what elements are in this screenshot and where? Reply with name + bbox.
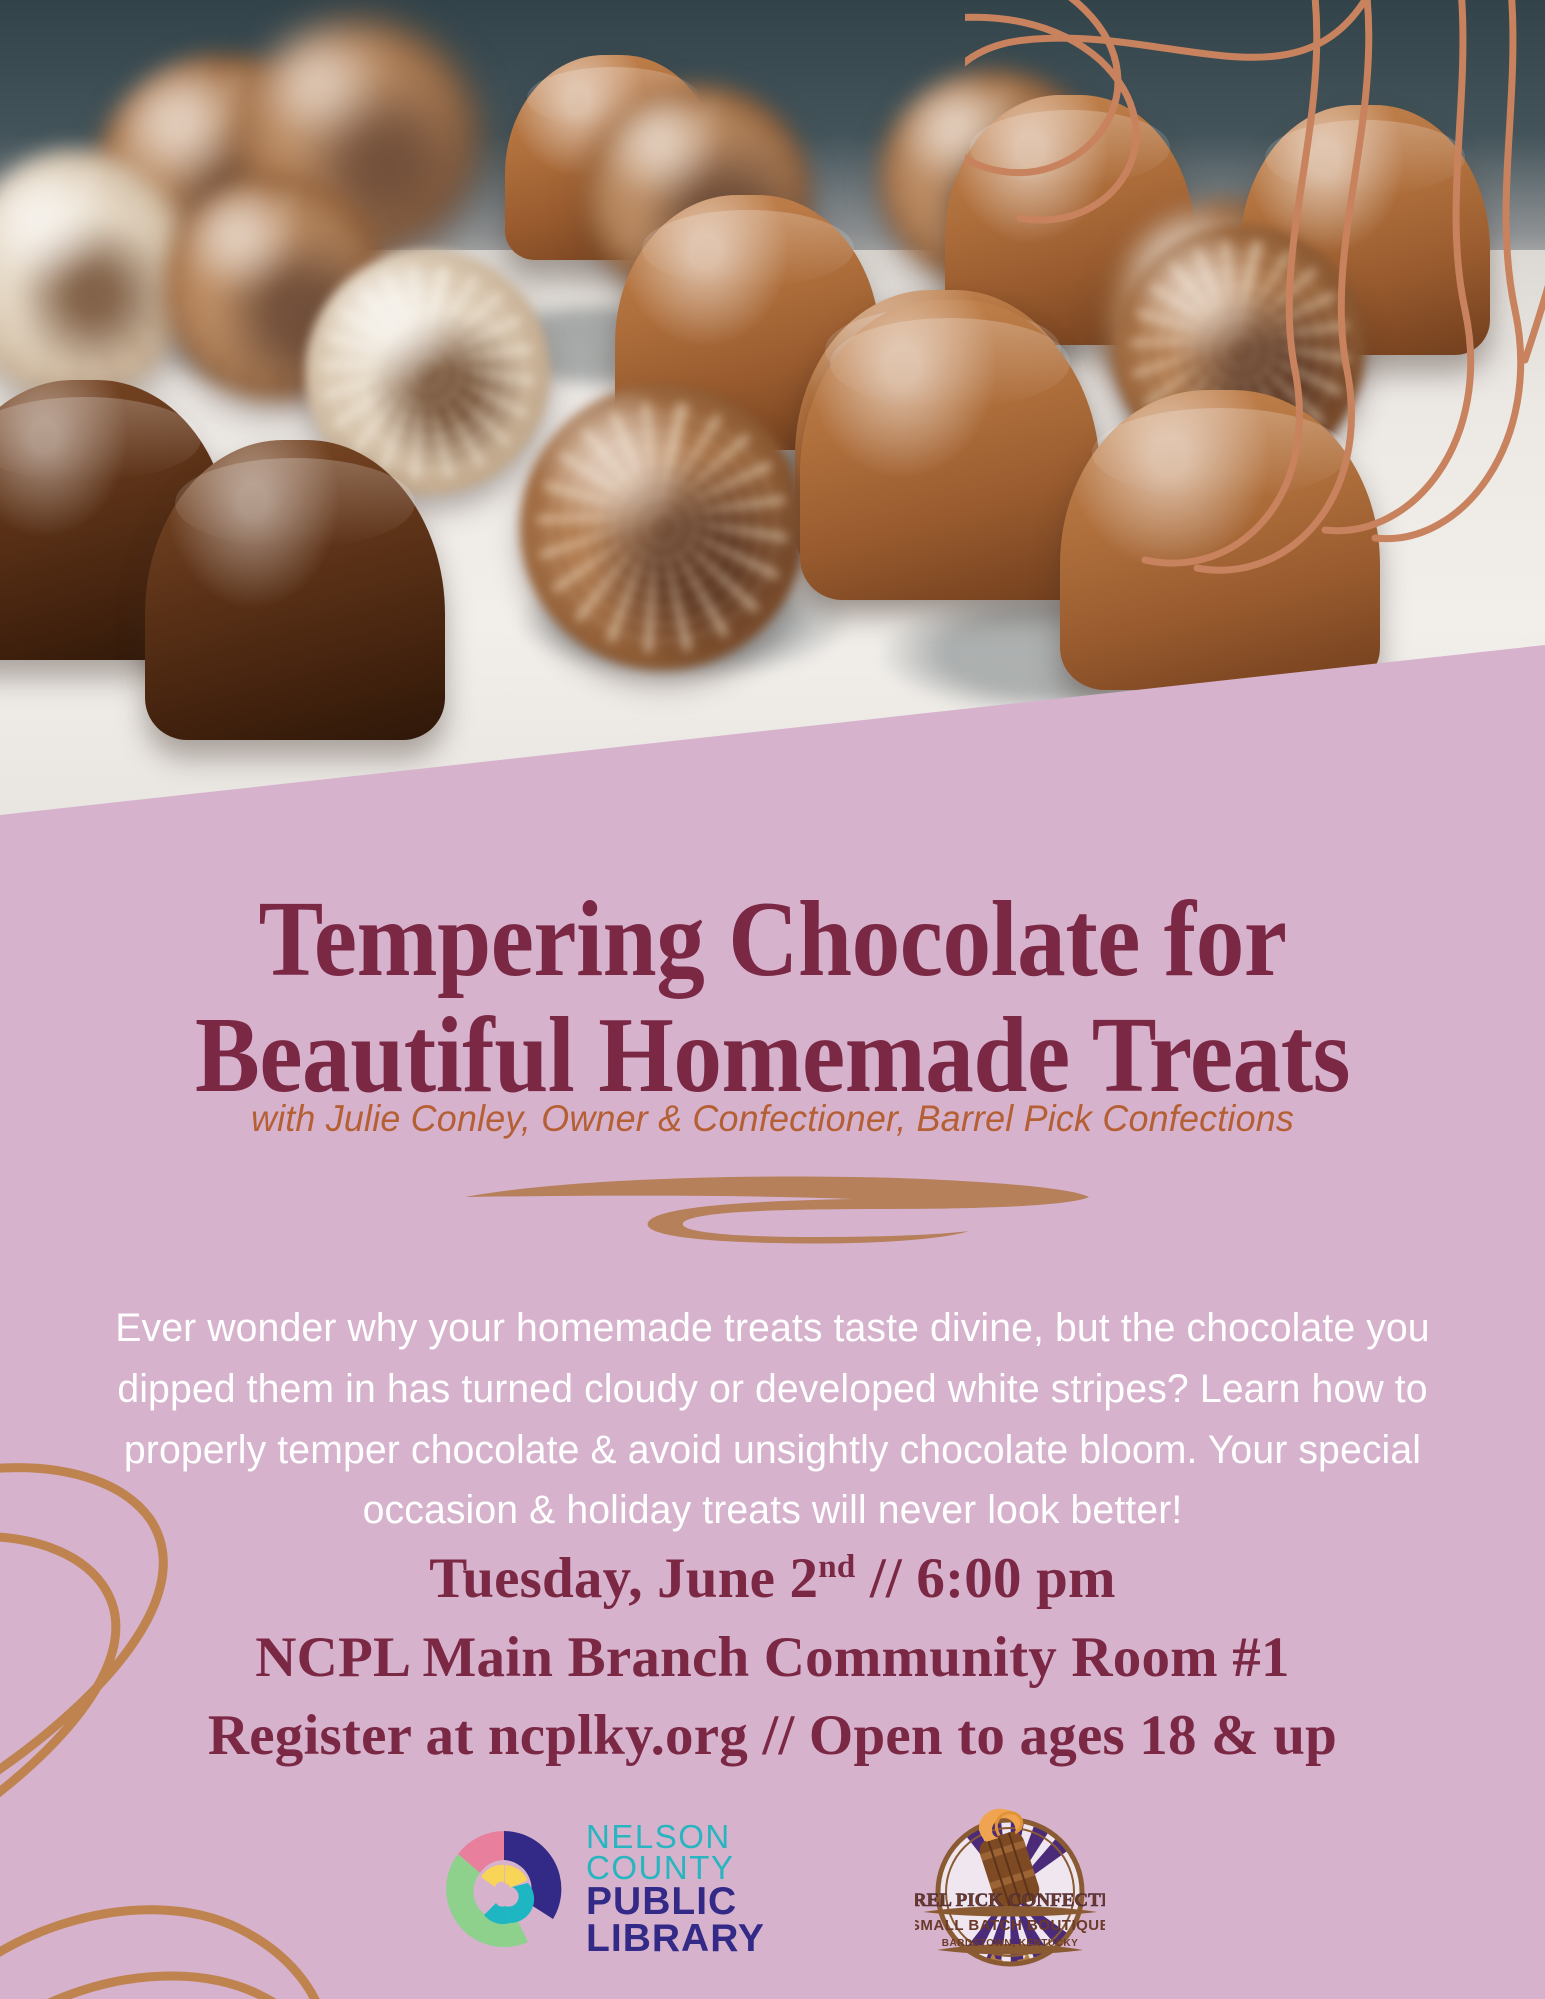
ncpl-word-library: LIBRARY: [586, 1920, 765, 1957]
description-text: Ever wonder why your homemade treats tas…: [76, 1298, 1469, 1541]
barrel-pick-confections-logo: BARREL PICK CONFECTIONS SMALL BATCH BOUT…: [915, 1800, 1105, 1978]
title-line-1: Tempering Chocolate for: [77, 882, 1468, 998]
ncpl-word-public: PUBLIC: [586, 1883, 765, 1920]
bpc-main-text: BARREL PICK CONFECTIONS: [915, 1890, 1105, 1911]
barrel-pick-badge-icon: BARREL PICK CONFECTIONS SMALL BATCH BOUT…: [915, 1800, 1105, 1978]
event-flyer: Tempering Chocolate for Beautiful Homema…: [0, 0, 1545, 1999]
event-location: NCPL Main Branch Community Room #1: [0, 1619, 1545, 1698]
event-time: // 6:00 pm: [855, 1547, 1115, 1610]
event-date-prefix: Tuesday, June 2: [429, 1547, 818, 1610]
ncpl-word-nelson: NELSON: [586, 1821, 765, 1852]
bpc-location-text: BARDSTOWN, KENTUCKY: [942, 1938, 1079, 1949]
event-date-line: Tuesday, June 2nd // 6:00 pm: [0, 1540, 1545, 1619]
copper-flourish-swoosh-icon: [453, 1165, 1093, 1245]
logo-row: NELSON COUNTY PUBLIC LIBRARY: [0, 1800, 1545, 1978]
ncpl-word-county: COUNTY: [586, 1852, 765, 1883]
ncpl-ring-mark-icon: [440, 1825, 568, 1953]
event-details: Tuesday, June 2nd // 6:00 pm NCPL Main B…: [0, 1540, 1545, 1776]
bpc-tagline-text: SMALL BATCH BOUTIQUE: [915, 1917, 1105, 1934]
page-title: Tempering Chocolate for Beautiful Homema…: [77, 882, 1468, 1113]
flyer-content: Tempering Chocolate for Beautiful Homema…: [0, 0, 1545, 1999]
presenter-subtitle: with Julie Conley, Owner & Confectioner,…: [23, 1098, 1522, 1140]
ncpl-logo: NELSON COUNTY PUBLIC LIBRARY: [440, 1821, 765, 1958]
event-registration: Register at ncplky.org // Open to ages 1…: [0, 1697, 1545, 1776]
title-line-2: Beautiful Homemade Treats: [77, 998, 1468, 1114]
ncpl-wordmark: NELSON COUNTY PUBLIC LIBRARY: [586, 1821, 765, 1958]
event-date-ordinal: nd: [818, 1549, 855, 1585]
